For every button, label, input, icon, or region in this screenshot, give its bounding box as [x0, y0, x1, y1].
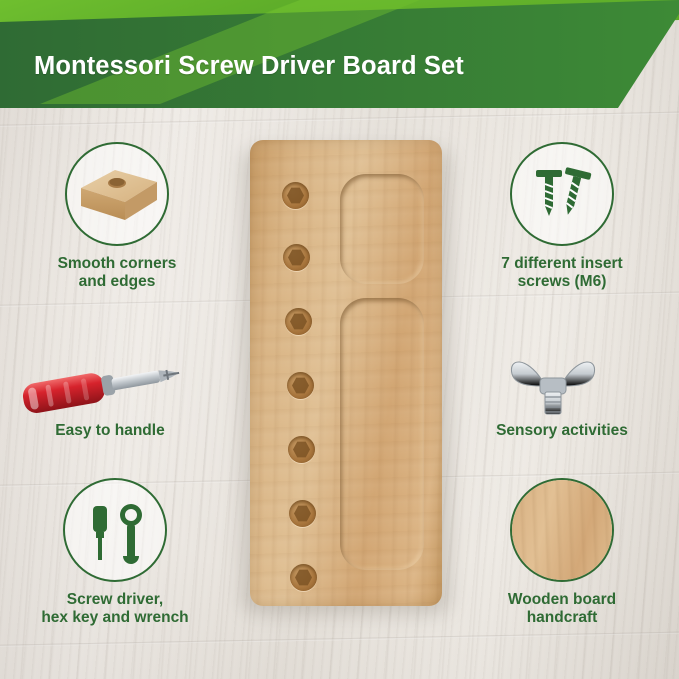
wing-nut-icon: [464, 348, 660, 420]
feature-caption-line1: Screw driver,: [20, 591, 210, 609]
hex-socket-icon: [293, 441, 310, 458]
feature-smooth-corners: Smooth corners and edges: [22, 142, 212, 292]
feature-caption: Sensory activities: [464, 422, 660, 440]
wing-nut-art: [464, 348, 660, 420]
hex-socket-icon: [292, 377, 309, 394]
feature-caption: 7 different insert screws (M6): [467, 255, 657, 292]
feature-caption-line2: hex key and wrench: [20, 609, 210, 627]
feature-icon-circle: [510, 142, 614, 246]
feature-easy-to-handle: Easy to handle: [12, 348, 208, 440]
wooden-board: [250, 140, 442, 606]
feature-caption-line1: Easy to handle: [12, 422, 208, 440]
product-infographic: Montessori Screw Driver Board Set: [0, 0, 679, 679]
feature-caption: Smooth corners and edges: [22, 255, 212, 292]
feature-caption-line1: Wooden board: [467, 591, 657, 609]
page-title: Montessori Screw Driver Board Set: [34, 52, 464, 81]
hex-socket-icon: [287, 187, 304, 204]
feature-icon-circle: [65, 142, 169, 246]
screws-icon: [512, 144, 614, 246]
feature-caption: Screw driver, hex key and wrench: [20, 591, 210, 628]
wood-block-icon: [75, 166, 163, 226]
screw-hole: [287, 372, 314, 399]
header-banner: Montessori Screw Driver Board Set: [0, 0, 679, 118]
feature-caption-line1: Sensory activities: [464, 422, 660, 440]
feature-caption-line2: handcraft: [467, 609, 657, 627]
feature-icon-circle: [63, 478, 167, 582]
screw-hole: [289, 500, 316, 527]
screw-hole: [282, 182, 309, 209]
hex-socket-icon: [295, 569, 312, 586]
feature-sensory-activities: Sensory activities: [464, 348, 660, 440]
hex-socket-icon: [294, 505, 311, 522]
screwdriver-icon: [12, 348, 208, 420]
board-recess-bottom: [340, 298, 424, 570]
screw-hole: [288, 436, 315, 463]
screwdriver-wrench-icon: [65, 480, 167, 582]
wood-grain-icon: [512, 480, 612, 580]
screwdriver-art: [12, 348, 208, 420]
feature-caption: Wooden board handcraft: [467, 591, 657, 628]
product-image: [250, 140, 442, 606]
screw-hole: [285, 308, 312, 335]
feature-caption: Easy to handle: [12, 422, 208, 440]
hex-socket-icon: [288, 249, 305, 266]
board-recess-top: [340, 174, 424, 284]
feature-tools: Screw driver, hex key and wrench: [20, 478, 210, 628]
feature-caption-line2: and edges: [22, 273, 212, 291]
feature-wooden-board: Wooden board handcraft: [467, 478, 657, 628]
screw-hole: [290, 564, 317, 591]
feature-caption-line2: screws (M6): [467, 273, 657, 291]
feature-icon-circle: [510, 478, 614, 582]
hex-socket-icon: [290, 313, 307, 330]
feature-insert-screws: 7 different insert screws (M6): [467, 142, 657, 292]
screw-hole: [283, 244, 310, 271]
feature-caption-line1: Smooth corners: [22, 255, 212, 273]
feature-caption-line1: 7 different insert: [467, 255, 657, 273]
